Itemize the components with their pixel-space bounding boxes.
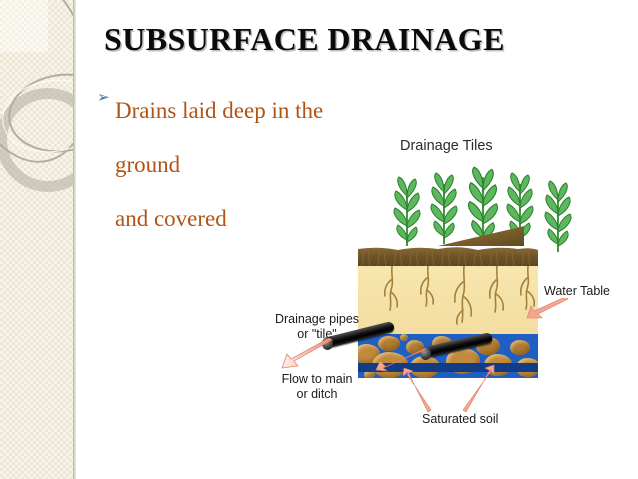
saturated-soil-arrow-left-icon <box>402 368 432 414</box>
drainage-pipes-label: Drainage pipes or "tile" <box>264 312 370 342</box>
list-item-label: Drains laid deep in the <box>115 84 323 138</box>
drainage-pipes-label-line2: or "tile" <box>264 327 370 342</box>
water-table-label: Water Table <box>544 284 610 299</box>
list-item-label: and covered <box>97 192 227 246</box>
water-table-arrow-icon <box>526 298 570 320</box>
slide-canvas: SUBSURFACE DRAINAGE ➢ Drains laid deep i… <box>0 0 638 479</box>
rock <box>400 334 408 341</box>
page-title: SUBSURFACE DRAINAGE <box>104 21 504 58</box>
topsoil-layer <box>358 246 538 266</box>
drainage-diagram: Drainage Tiles <box>262 132 638 452</box>
flow-label-line1: Flow to main <box>264 372 370 387</box>
sidebar-edge-divider <box>73 0 76 479</box>
flow-arrow-icon <box>278 338 334 372</box>
drainage-pipes-label-line1: Drainage pipes <box>264 312 370 327</box>
flow-label-line2: or ditch <box>264 387 370 402</box>
plant-icon <box>427 172 461 244</box>
diagram-title: Drainage Tiles <box>400 138 493 154</box>
list-item-label: ground <box>97 138 180 192</box>
saturated-soil-arrow-right-icon <box>462 364 496 414</box>
arrow-bullet-icon: ➢ <box>97 84 115 105</box>
decorative-sidebar <box>0 0 73 479</box>
plant-icon <box>390 176 424 248</box>
rock <box>510 340 530 355</box>
flow-label: Flow to main or ditch <box>264 372 370 402</box>
plant-icon <box>541 180 575 252</box>
saturated-soil-label: Saturated soil <box>422 412 498 427</box>
list-item: ➢ Drains laid deep in the <box>97 84 397 138</box>
